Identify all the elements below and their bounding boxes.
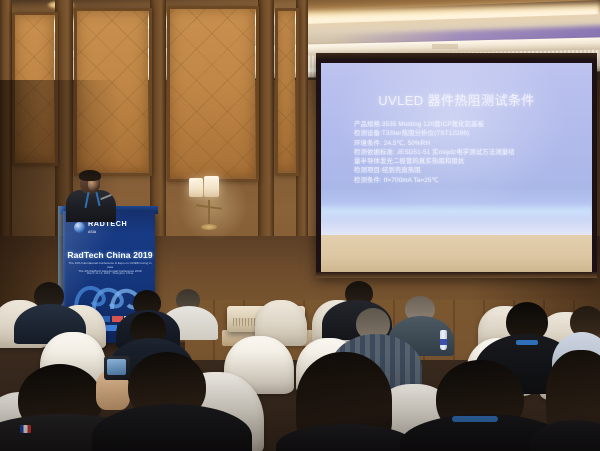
podium-brand: RADTECH ASIA — [88, 220, 150, 236]
slide-line: 检测设备:T3Ster热阻分析仪(TST12266) — [354, 129, 569, 138]
wall-panel-frame — [167, 6, 259, 182]
sconce-shade-left — [189, 178, 203, 197]
slide-line: 环境条件: 24.5℃, 50%RH — [354, 139, 569, 148]
event-title: RadTech China 2019 — [66, 250, 154, 260]
brand-line-2: ASIA — [88, 227, 150, 236]
ceiling-vent-icon — [432, 44, 458, 49]
radtech-logo-icon — [74, 222, 85, 233]
bottle-cap — [440, 339, 447, 345]
projection-screen: UVLED 器件热阻测试条件 产品规格:3535 Molding 120度ICP… — [321, 63, 592, 272]
slide-line: 检测条件: If=700mA Ta=25℃ — [354, 176, 569, 185]
wall-wood-column — [258, 0, 274, 260]
screen-bottom-bar — [316, 272, 597, 278]
wall-panel-frame — [275, 8, 299, 176]
slide-body: 产品规格:3535 Molding 120度ICP氮化铝基板 检测设备:T3St… — [354, 120, 569, 185]
slide-line: 量半导体发光二极管的真实热阻和阻抗 — [354, 157, 569, 166]
slide-title: UVLED 器件热阻测试条件 — [321, 90, 592, 109]
screen-unlit-area — [321, 235, 592, 272]
sconce-base — [201, 224, 217, 230]
speaker-hair — [79, 170, 101, 181]
slide-line: 检测依据标准: JESD51-51 实międz电学测试方法测量结 — [354, 148, 569, 157]
event-date-location: March 11-13, 2019 · Shanghai, China — [66, 271, 154, 275]
slide-line: 检测项目:结到壳直热阻 — [354, 166, 569, 175]
slide-line: 产品规格:3535 Molding 120度ICP氮化铝基板 — [354, 120, 569, 129]
sconce-shade-right — [204, 176, 219, 197]
projector-light-band — [321, 203, 592, 221]
sponsor-chip — [106, 325, 117, 331]
foreground-vignette — [0, 352, 600, 451]
sconce-arm — [208, 200, 210, 226]
conference-photo-scene: UVLED 器件热阻测试条件 产品规格:3535 Molding 120度ICP… — [0, 0, 600, 451]
attendee-lanyard — [516, 340, 538, 345]
event-subtitle-line-1: The 16th International Conference & Expo… — [66, 261, 154, 269]
